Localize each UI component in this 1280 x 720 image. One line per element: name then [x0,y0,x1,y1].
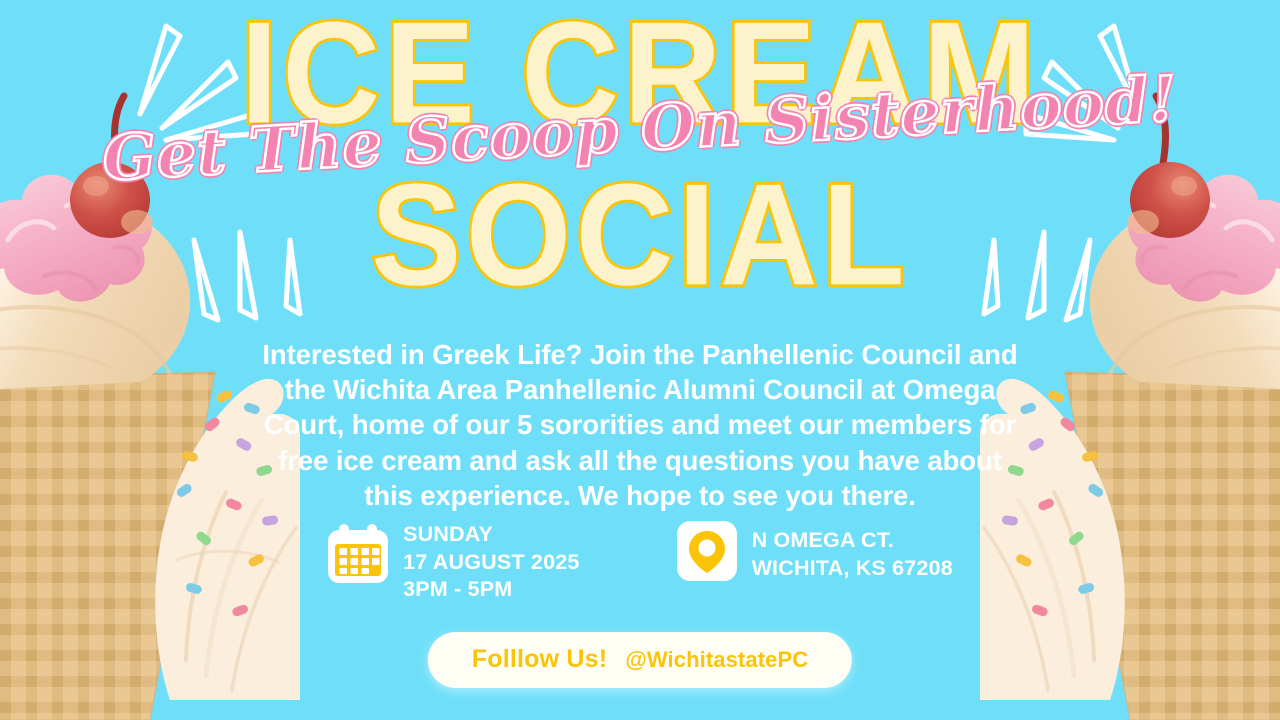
location-info-block: N OMEGA CT. WICHITA, KS 67208 [676,520,953,604]
ice-cream-social-flyer: ICE CREAM SOCIAL Get The Scoop On Sister… [0,0,1280,720]
follow-us-pill[interactable]: Folllow Us! @WichitastatePC [428,632,852,688]
event-date: 17 AUGUST 2025 [403,549,579,577]
venue-street: N OMEGA CT. [752,527,953,555]
event-day: SUNDAY [403,521,579,549]
location-info-text: N OMEGA CT. WICHITA, KS 67208 [752,520,953,582]
body-paragraph: Interested in Greek Life? Join the Panhe… [260,337,1020,514]
date-info-block: SUNDAY 17 AUGUST 2025 3PM - 5PM [327,520,579,604]
venue-city-state-zip: WICHITA, KS 67208 [752,555,953,583]
event-time: 3PM - 5PM [403,576,579,604]
info-row: SUNDAY 17 AUGUST 2025 3PM - 5PM N OMEGA … [280,520,1000,604]
social-handle[interactable]: @WichitastatePC [625,647,808,673]
calendar-icon [327,520,389,584]
date-info-text: SUNDAY 17 AUGUST 2025 3PM - 5PM [403,520,579,604]
follow-us-label: Folllow Us! [472,645,608,674]
map-pin-icon [676,520,738,582]
